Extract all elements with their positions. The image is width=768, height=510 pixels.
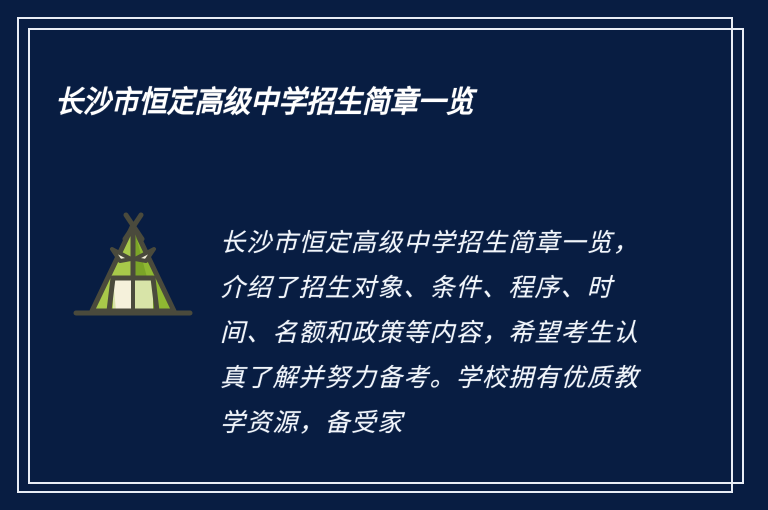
tent-icon (68, 205, 198, 335)
illustration-container (55, 195, 210, 335)
body-paragraph: 长沙市恒定高级中学招生简章一览，介绍了招生对象、条件、程序、时间、名额和政策等内… (220, 220, 665, 445)
page-title: 长沙市恒定高级中学招生简章一览 (55, 78, 613, 128)
content-row: 长沙市恒定高级中学招生简章一览，介绍了招生对象、条件、程序、时间、名额和政策等内… (55, 195, 713, 470)
poster-canvas: 长沙市恒定高级中学招生简章一览 (0, 0, 768, 510)
